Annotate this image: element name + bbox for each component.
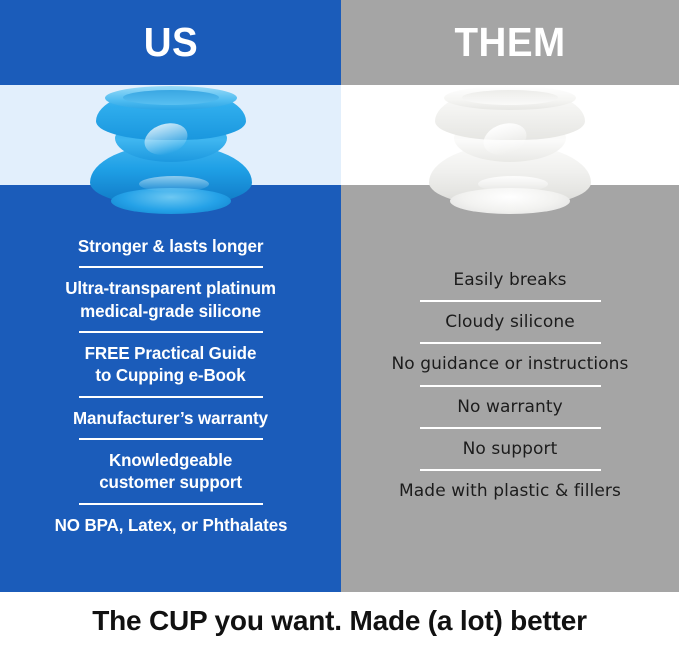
feature-divider [420,342,601,344]
feature-label: NO BPA, Latex, or Phthalates [54,514,287,536]
feature-label: FREE Practical Guide to Cupping e-Book [85,342,257,387]
feature-divider [79,266,263,268]
feature-label: No guidance or instructions [391,353,628,375]
feature-item: Manufacturer’s warranty [0,407,341,429]
feature-divider [79,396,263,398]
column-us-header: US [0,0,341,85]
feature-divider [79,438,263,440]
cup-highlight-lower [139,176,209,192]
feature-item: Easily breaks [341,269,679,291]
feature-label: Manufacturer’s warranty [73,407,268,429]
feature-divider [79,503,263,505]
feature-item: Knowledgeable customer support [0,449,341,494]
clear-cup-image [426,89,594,214]
feature-item: Cloudy silicone [341,311,679,333]
column-us: US Stronger & lasts longer Ultra-transpa… [0,0,341,592]
column-them-header: THEM [341,0,679,85]
feature-label: Ultra-transparent platinum medical-grade… [65,277,276,322]
comparison-chart: US Stronger & lasts longer Ultra-transpa… [0,0,679,649]
feature-item: FREE Practical Guide to Cupping e-Book [0,342,341,387]
feature-divider [420,427,601,429]
feature-label: Knowledgeable customer support [99,449,242,494]
feature-label: Easily breaks [453,269,566,291]
product-photo-band-us [0,85,341,185]
feature-label: No support [463,438,558,460]
feature-divider [79,331,263,333]
feature-divider [420,385,601,387]
feature-item: Made with plastic & fillers [341,480,679,502]
feature-list-us: Stronger & lasts longer Ultra-transparen… [0,185,341,592]
feature-divider [420,469,601,471]
feature-item: Stronger & lasts longer [0,235,341,257]
blue-cup-image [87,89,255,214]
feature-item: NO BPA, Latex, or Phthalates [0,514,341,536]
feature-item: No support [341,438,679,460]
feature-label: Made with plastic & fillers [399,480,621,502]
cup-rim-inner [462,90,558,105]
feature-item: Ultra-transparent platinum medical-grade… [0,277,341,322]
footer-tagline-bar: The CUP you want. Made (a lot) better [0,592,679,649]
footer-tagline: The CUP you want. Made (a lot) better [92,605,587,637]
feature-item: No guidance or instructions [341,353,679,375]
column-them: THEM Easily breaks Cloudy silicone [341,0,679,592]
feature-item: No warranty [341,396,679,418]
column-them-header-label: THEM [454,22,565,63]
product-photo-band-them [341,85,679,185]
feature-label: No warranty [457,396,563,418]
cup-rim-inner [123,90,219,105]
feature-list-them: Easily breaks Cloudy silicone No guidanc… [341,185,679,592]
cup-highlight-lower [478,176,548,192]
feature-label: Cloudy silicone [445,311,575,333]
column-us-header-label: US [143,22,197,63]
feature-label: Stronger & lasts longer [78,235,263,257]
feature-divider [420,300,601,302]
